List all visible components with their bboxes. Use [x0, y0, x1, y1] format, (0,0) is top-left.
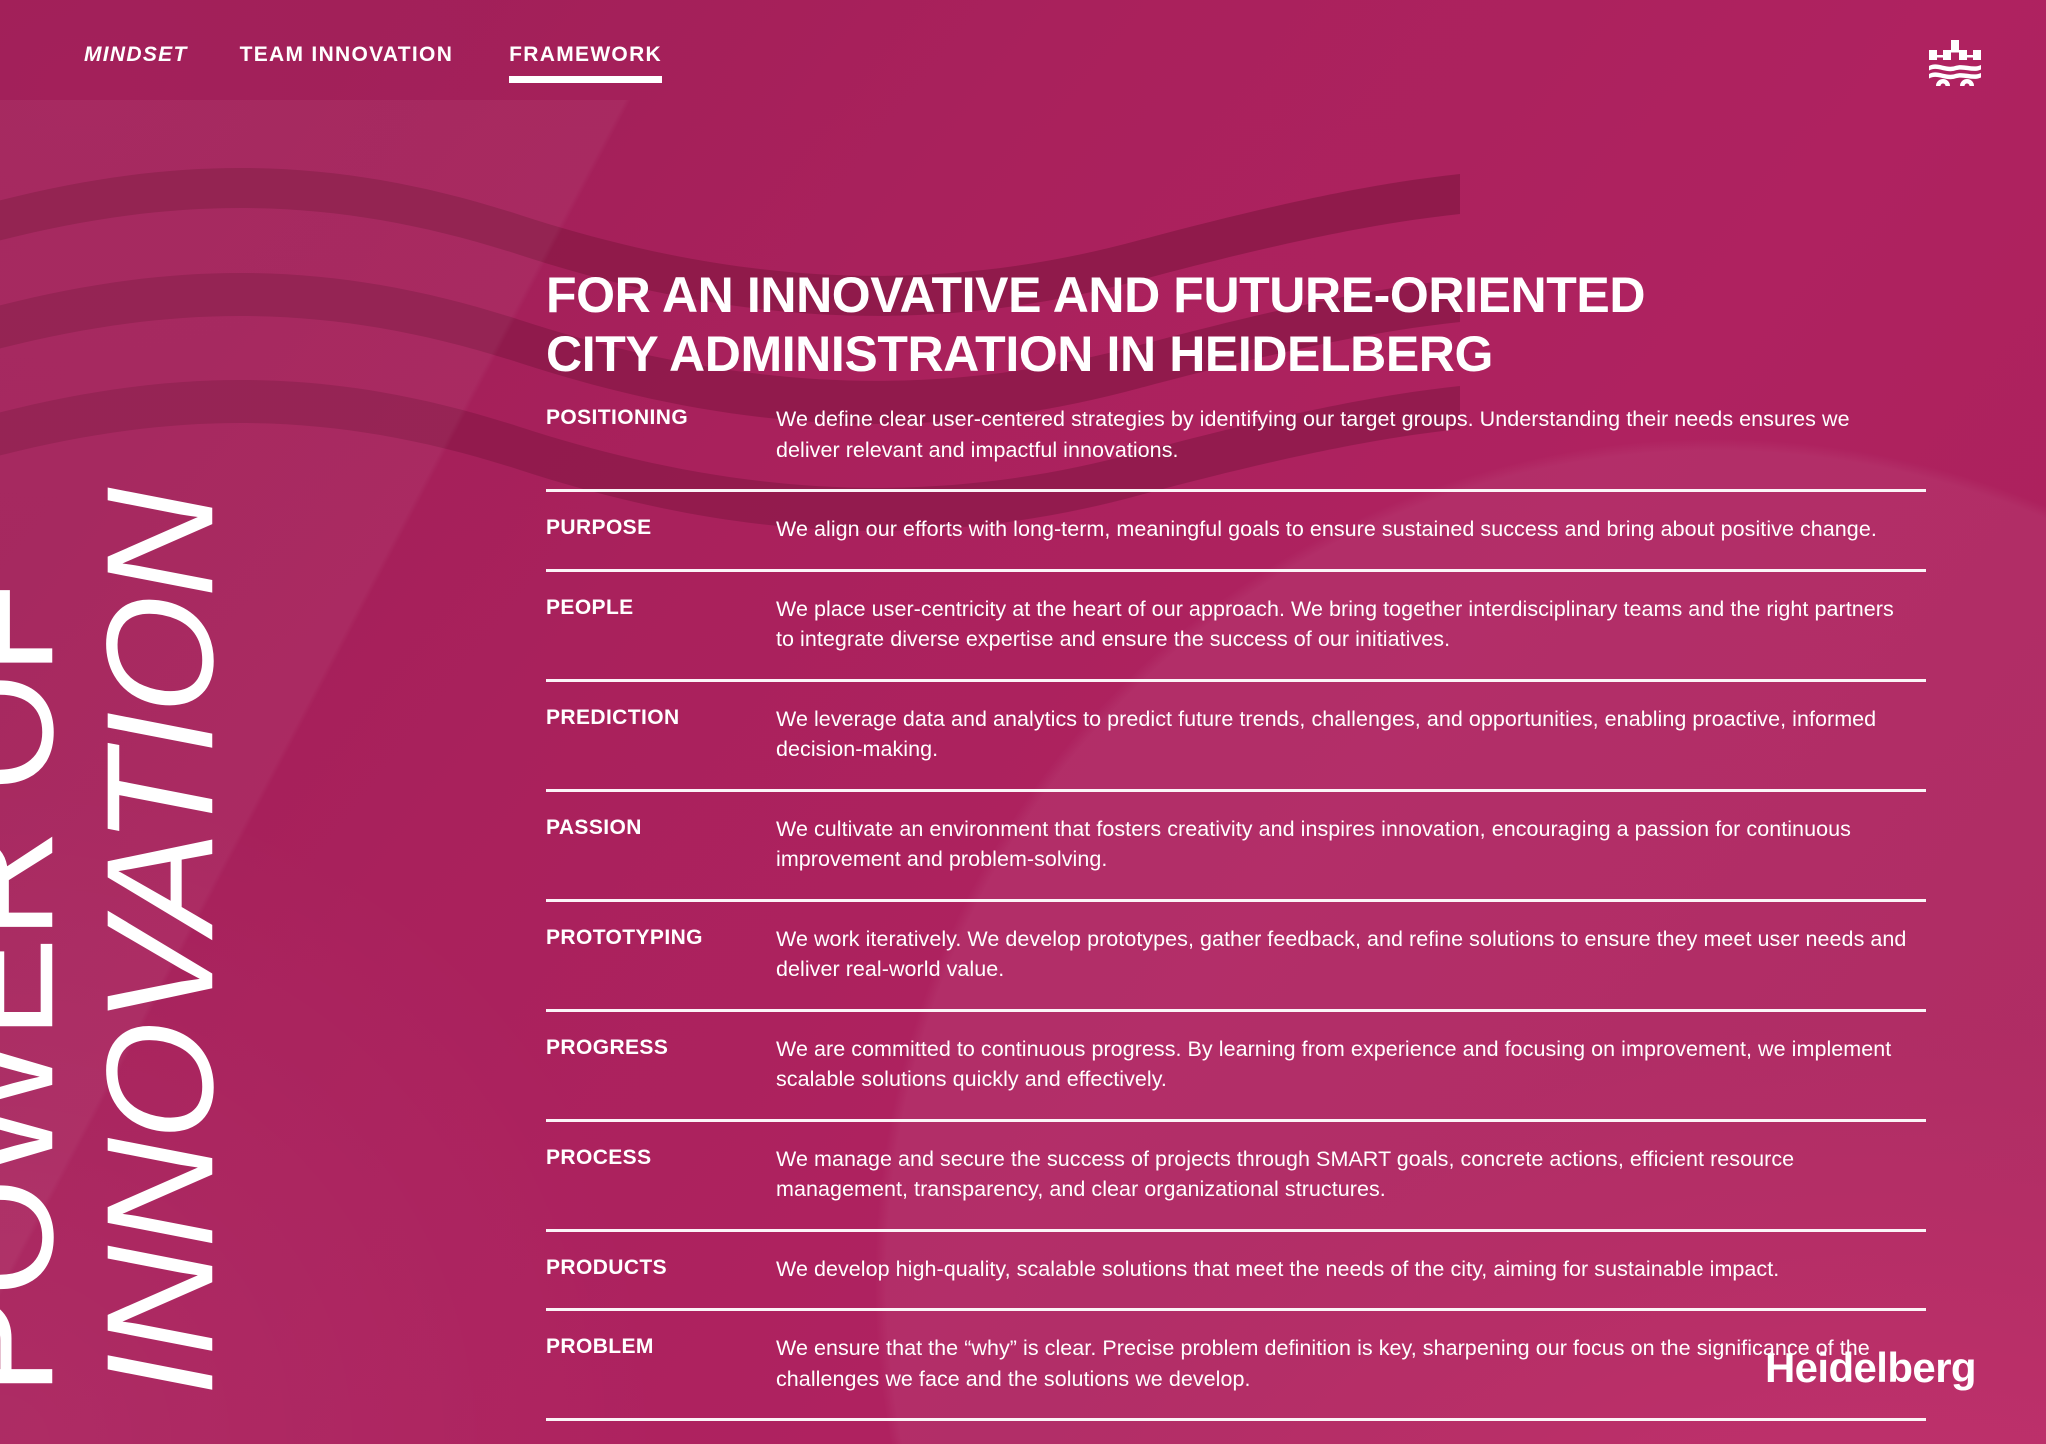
side-wordmark-line-power-of: POWER OF [0, 584, 68, 1396]
table-row-label: POSITIONING [546, 404, 776, 431]
table-row-label: PEOPLE [546, 594, 776, 621]
table-row-description: We align our efforts with long-term, mea… [776, 514, 1916, 545]
side-wordmark: POWER OF INNOVATION [0, 0, 420, 1444]
table-row-label: PROGRESS [546, 1034, 776, 1061]
table-row: PURPOSE We align our efforts with long-t… [546, 489, 1926, 569]
table-row-label: PASSION [546, 814, 776, 841]
table-row: PASSION We cultivate an environment that… [546, 789, 1926, 899]
framework-table: POSITIONING We define clear user-centere… [546, 404, 1926, 1444]
nav-active-underline [509, 76, 662, 83]
table-row-description: We cultivate an environment that fosters… [776, 814, 1916, 875]
nav-item-team-innovation[interactable]: TEAM INNOVATION [240, 44, 454, 83]
table-row: PROOFED We adhere to high-quality standa… [546, 1418, 1926, 1444]
nav-item-team-innovation-label: TEAM INNOVATION [240, 43, 454, 66]
table-row-description: We manage and secure the success of proj… [776, 1144, 1916, 1205]
table-row-label: PURPOSE [546, 514, 776, 541]
heidelberg-logo-icon [1928, 38, 1982, 86]
nav-item-mindset-label: MINDSET [84, 43, 188, 66]
table-row: POSITIONING We define clear user-centere… [546, 404, 1926, 489]
table-row-description: We work iteratively. We develop prototyp… [776, 924, 1916, 985]
table-row: PROCESS We manage and secure the success… [546, 1119, 1926, 1229]
top-navigation[interactable]: MINDSET TEAM INNOVATION FRAMEWORK [84, 44, 662, 83]
table-row: PROGRESS We are committed to continuous … [546, 1009, 1926, 1119]
table-row-label: PRODUCTS [546, 1254, 776, 1281]
table-row-description: We develop high-quality, scalable soluti… [776, 1254, 1916, 1285]
main-content: FOR AN INNOVATIVE AND FUTURE-ORIENTED CI… [546, 0, 2046, 1444]
table-row: PRODUCTS We develop high-quality, scalab… [546, 1229, 1926, 1309]
nav-item-framework[interactable]: FRAMEWORK [509, 44, 662, 83]
page-title-line-1: FOR AN INNOVATIVE AND FUTURE-ORIENTED [546, 266, 1796, 325]
table-row-description: We leverage data and analytics to predic… [776, 704, 1916, 765]
page-title-line-2: CITY ADMINISTRATION IN HEIDELBERG [546, 325, 1796, 384]
table-row-label: PREDICTION [546, 704, 776, 731]
table-row-description: We ensure that the “why” is clear. Preci… [776, 1333, 1916, 1394]
nav-item-mindset[interactable]: MINDSET [84, 44, 188, 83]
table-row-label: PROTOTYPING [546, 924, 776, 951]
page-title: FOR AN INNOVATIVE AND FUTURE-ORIENTED CI… [546, 266, 1796, 384]
table-row-description: We place user-centricity at the heart of… [776, 594, 1916, 655]
nav-item-framework-label: FRAMEWORK [509, 43, 662, 66]
table-row: PREDICTION We leverage data and analytic… [546, 679, 1926, 789]
table-row: PROBLEM We ensure that the “why” is clea… [546, 1308, 1926, 1418]
table-row: PEOPLE We place user-centricity at the h… [546, 569, 1926, 679]
table-row-label: PROBLEM [546, 1333, 776, 1360]
table-row: PROTOTYPING We work iteratively. We deve… [546, 899, 1926, 1009]
heidelberg-wordmark: Heidelberg [1765, 1344, 1976, 1392]
table-row-description: We are committed to continuous progress.… [776, 1034, 1916, 1095]
table-row-label: PROCESS [546, 1144, 776, 1171]
slide-root: MINDSET TEAM INNOVATION FRAMEWORK [0, 0, 2046, 1444]
table-row-description: We define clear user-centered strategies… [776, 404, 1916, 465]
side-wordmark-line-innovation: INNOVATION [94, 490, 228, 1396]
